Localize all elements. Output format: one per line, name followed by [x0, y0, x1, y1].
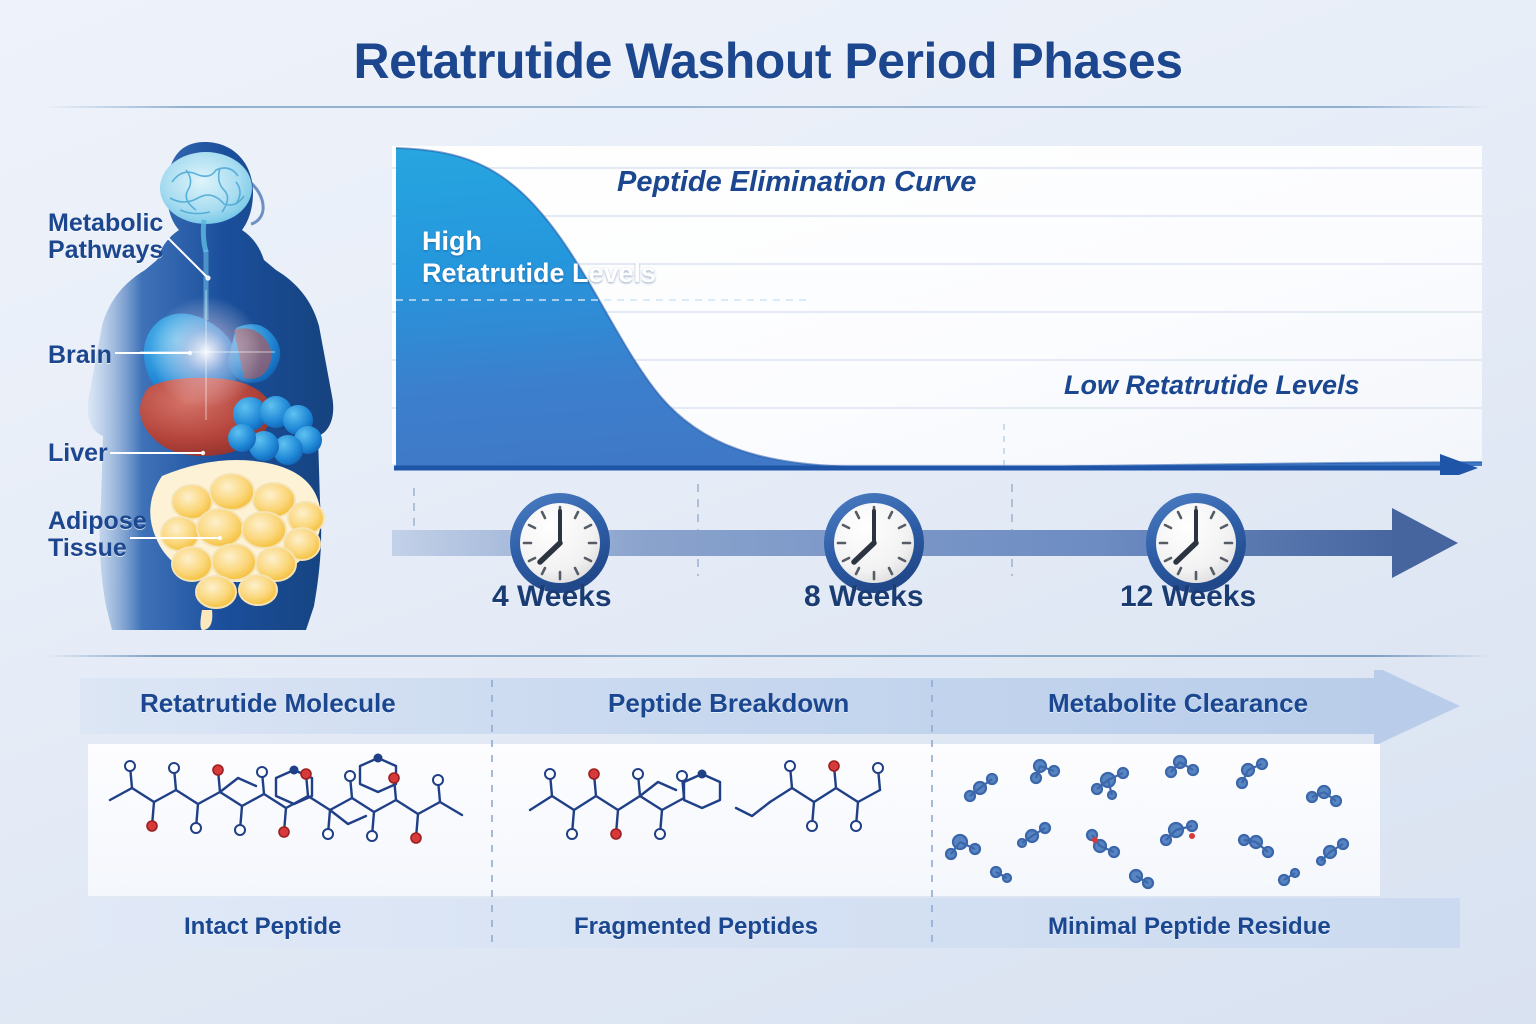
timeline-label-week-4: 4 Weeks — [492, 580, 612, 614]
label-metabolic-pathways: Metabolic Pathways — [48, 210, 163, 264]
page-title: Retatrutide Washout Period Phases — [0, 32, 1536, 90]
label-liver: Liver — [48, 440, 108, 467]
annotation-high-level: High Retatrutide Levels — [422, 225, 656, 290]
phase-caption-fragmented-peptides: Fragmented Peptides — [574, 913, 818, 941]
clock-icon-week-4 — [510, 493, 610, 593]
phase-heading-peptide-breakdown: Peptide Breakdown — [608, 688, 849, 719]
infographic-canvas: Retatrutide Washout Period Phases — [0, 0, 1536, 1024]
label-adipose-tissue: Adipose Tissue — [48, 508, 147, 562]
annotation-low-level: Low Retatrutide Levels — [1064, 370, 1360, 401]
annotation-high-line1: High — [422, 225, 656, 257]
phase-caption-minimal-residue: Minimal Peptide Residue — [1048, 913, 1331, 941]
label-metabolic-pathways-line1: Metabolic — [48, 210, 163, 237]
chart-title: Peptide Elimination Curve — [617, 166, 976, 199]
label-adipose-line2: Tissue — [48, 535, 147, 562]
label-adipose-line1: Adipose — [48, 508, 147, 535]
brain-stem — [203, 220, 206, 252]
timeline-svg — [392, 480, 1492, 640]
label-metabolic-pathways-line2: Pathways — [48, 237, 163, 264]
clock-icon-week-12 — [1146, 493, 1246, 593]
anatomy-panel: Metabolic Pathways Brain Liver Adipose T… — [20, 120, 390, 630]
phases-panel: Retatrutide Molecule Peptide Breakdown M… — [80, 670, 1460, 960]
label-brain: Brain — [48, 342, 112, 369]
section-divider — [45, 655, 1491, 657]
title-divider — [44, 106, 1492, 108]
washout-timeline: 4 Weeks 8 Weeks 12 Weeks — [392, 480, 1492, 640]
phase-heading-retatrutide-molecule: Retatrutide Molecule — [140, 688, 396, 719]
timeline-label-week-8: 8 Weeks — [804, 580, 924, 614]
phase-caption-intact-peptide: Intact Peptide — [184, 913, 341, 941]
peptide-elimination-chart: Peptide Elimination Curve High Retatruti… — [392, 140, 1482, 475]
timeline-label-week-12: 12 Weeks — [1120, 580, 1256, 614]
phase-heading-metabolite-clearance: Metabolite Clearance — [1048, 688, 1308, 719]
clock-icon-week-8 — [824, 493, 924, 593]
annotation-high-line2: Retatrutide Levels — [422, 257, 656, 289]
